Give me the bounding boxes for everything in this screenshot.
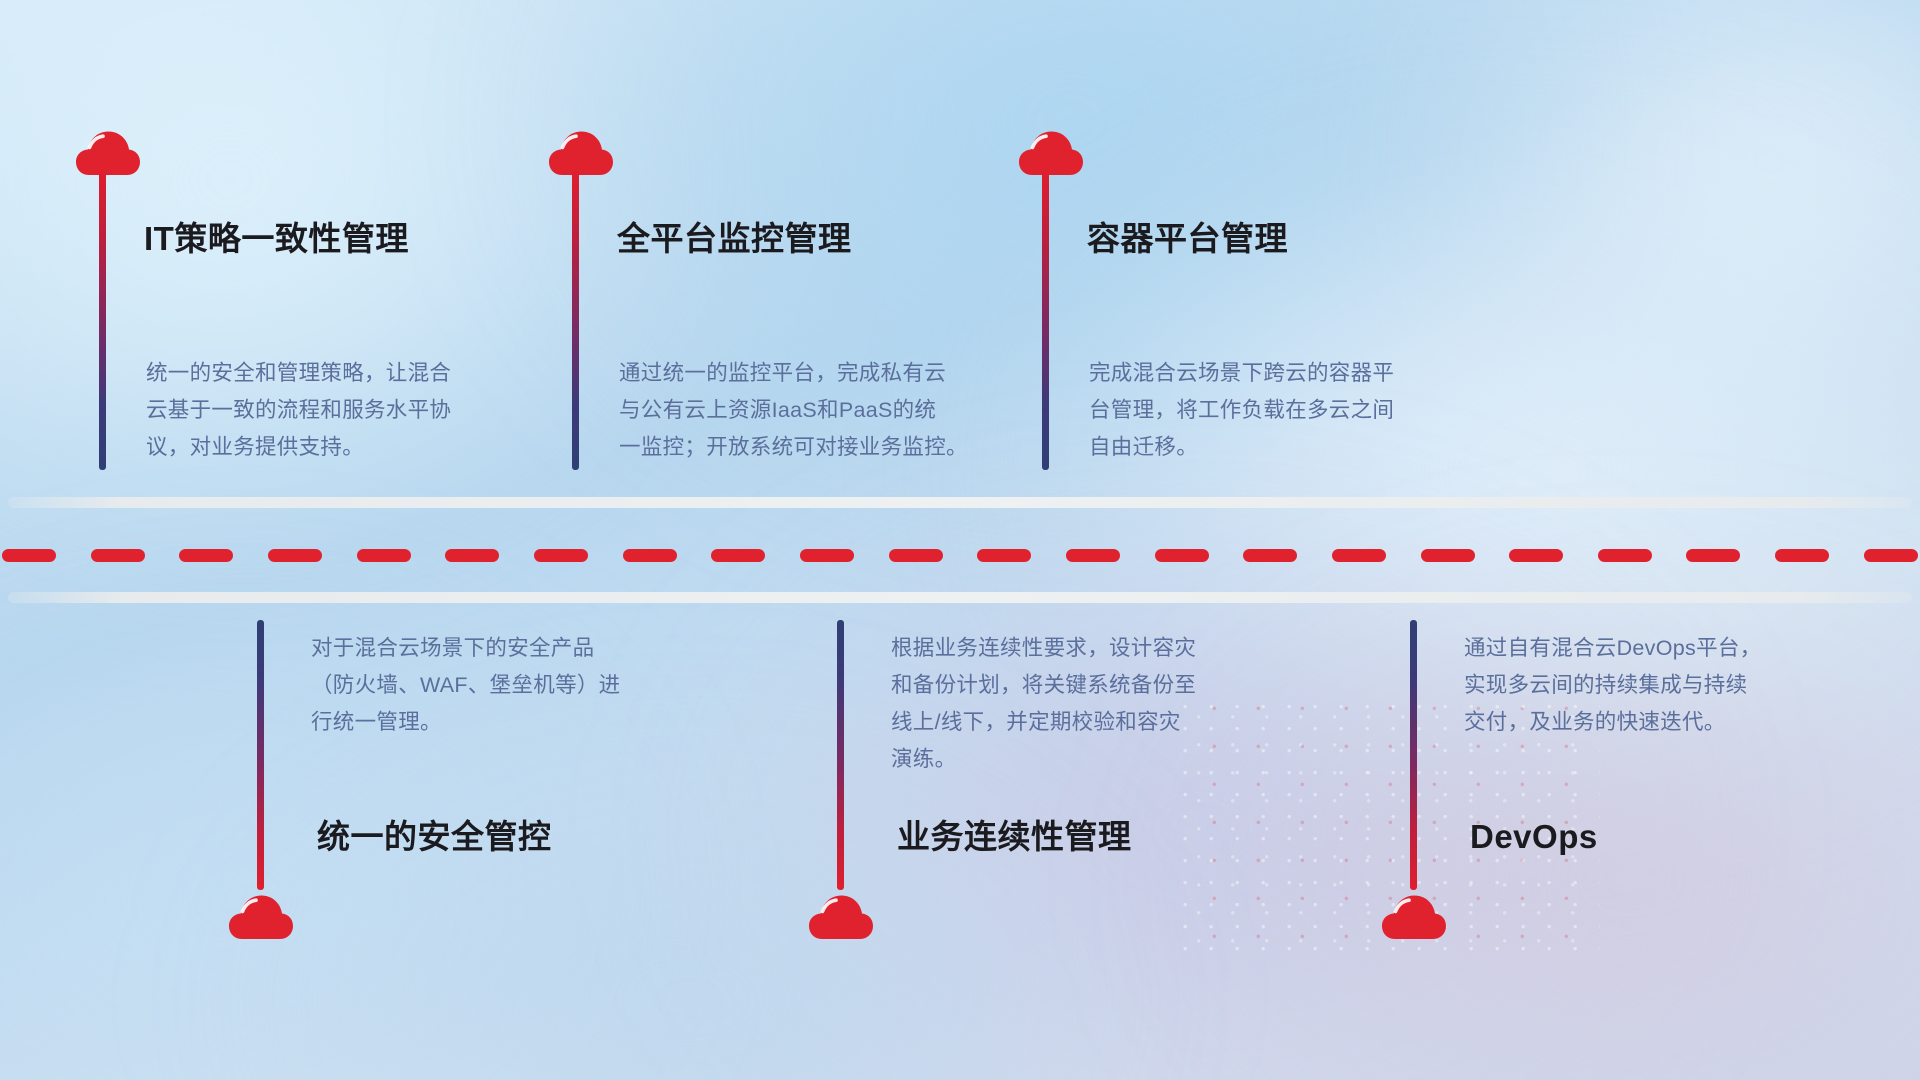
dash-segment xyxy=(889,549,943,562)
dash-segment xyxy=(2,549,56,562)
dash-segment xyxy=(1598,549,1652,562)
bottom-card-3-heading: DevOps xyxy=(1470,820,1598,853)
bottom-card-2-heading: 业务连续性管理 xyxy=(897,820,1132,853)
top-card-2-body: 通过统一的监控平台，完成私有云 与公有云上资源IaaS和PaaS的统 一监控；开… xyxy=(619,355,1049,466)
dash-segment xyxy=(179,549,233,562)
bottom-card-2-body: 根据业务连续性要求，设计容灾 和备份计划，将关键系统备份至 线上/线下，并定期校… xyxy=(891,630,1321,778)
dash-segment xyxy=(1686,549,1740,562)
timeline-stem xyxy=(99,170,106,470)
cloud-icon xyxy=(1382,895,1446,941)
bottom-card-1-body: 对于混合云场景下的安全产品 （防火墙、WAF、堡垒机等）进 行统一管理。 xyxy=(311,630,741,741)
dash-segment xyxy=(1066,549,1120,562)
cloud-icon xyxy=(76,131,140,177)
top-card-1-heading: IT策略一致性管理 xyxy=(144,222,409,255)
dash-segment xyxy=(1332,549,1386,562)
timeline-stem xyxy=(1410,620,1417,890)
dash-segment xyxy=(1509,549,1563,562)
timeline-stem xyxy=(837,620,844,890)
bottom-card-1-heading: 统一的安全管控 xyxy=(317,820,552,853)
cloud-icon xyxy=(549,131,613,177)
timeline-stem xyxy=(572,170,579,470)
dash-segment xyxy=(800,549,854,562)
dashed-separator xyxy=(0,548,1920,562)
top-card-3-body: 完成混合云场景下跨云的容器平 台管理，将工作负载在多云之间 自由迁移。 xyxy=(1089,355,1519,466)
dash-segment xyxy=(711,549,765,562)
top-card-1-body: 统一的安全和管理策略，让混合 云基于一致的流程和服务水平协 议，对业务提供支持。 xyxy=(146,355,576,466)
dash-segment xyxy=(1775,549,1829,562)
dash-segment xyxy=(1421,549,1475,562)
divider-rule-top xyxy=(8,497,1912,508)
timeline-stem xyxy=(1042,170,1049,470)
cloud-icon xyxy=(1019,131,1083,177)
cloud-icon xyxy=(809,895,873,941)
bottom-card-3-body: 通过自有混合云DevOps平台， 实现多云间的持续集成与持续 交付，及业务的快速… xyxy=(1464,630,1894,741)
dash-segment xyxy=(1243,549,1297,562)
dash-segment xyxy=(977,549,1031,562)
dash-segment xyxy=(268,549,322,562)
infographic-canvas: IT策略一致性管理 统一的安全和管理策略，让混合 云基于一致的流程和服务水平协 … xyxy=(0,0,1920,1080)
dash-segment xyxy=(623,549,677,562)
dash-segment xyxy=(357,549,411,562)
dash-segment xyxy=(534,549,588,562)
cloud-icon xyxy=(229,895,293,941)
top-card-2-heading: 全平台监控管理 xyxy=(617,222,852,255)
divider-rule-bottom xyxy=(8,592,1912,603)
top-card-3-heading: 容器平台管理 xyxy=(1087,222,1288,255)
dash-segment xyxy=(1155,549,1209,562)
dash-segment xyxy=(91,549,145,562)
timeline-stem xyxy=(257,620,264,890)
dash-segment xyxy=(1864,549,1918,562)
dash-segment xyxy=(445,549,499,562)
